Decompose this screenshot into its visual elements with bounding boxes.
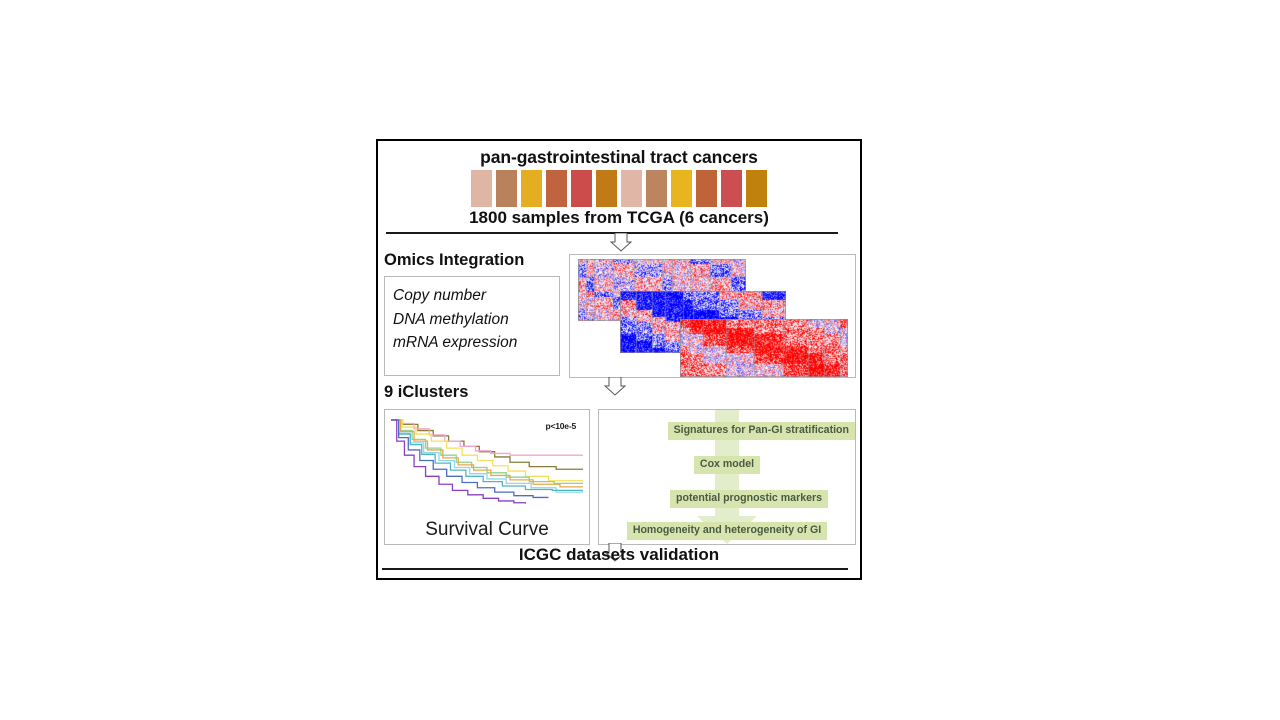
person-4-icon <box>546 170 567 207</box>
person-6-icon <box>596 170 617 207</box>
footer-label: ICGC datasets validation <box>378 545 860 565</box>
sample-count-label: 1800 samples from TCGA (6 cancers) <box>378 208 860 228</box>
outcomes-panel: Signatures for Pan-GI stratification Cox… <box>598 409 856 545</box>
person-10-icon <box>696 170 717 207</box>
omics-list: Copy number DNA methylation mRNA express… <box>384 276 560 376</box>
pvalue-label: p<10e-5 <box>546 421 577 431</box>
outcome-tag-signatures: Signatures for Pan-GI stratification <box>668 422 855 440</box>
person-2-icon <box>496 170 517 207</box>
people-icon-row <box>378 170 860 207</box>
person-7-icon <box>621 170 642 207</box>
omics-item-mrna-expression: mRNA expression <box>393 331 559 355</box>
survival-curve-caption: Survival Curve <box>385 519 589 541</box>
omics-heading: Omics Integration <box>384 251 524 270</box>
figure-frame: pan-gastrointestinal tract cancers 1800 … <box>376 139 862 580</box>
footer-divider <box>382 568 848 570</box>
outcome-tag-homogeneity: Homogeneity and heterogeneity of GI <box>627 522 827 540</box>
omics-item-copy-number: Copy number <box>393 284 559 308</box>
person-3-icon <box>521 170 542 207</box>
person-12-icon <box>746 170 767 207</box>
page-title: pan-gastrointestinal tract cancers <box>378 147 860 168</box>
outcome-tag-cox-model: Cox model <box>694 456 760 474</box>
arrow-down-icon-2 <box>604 377 626 396</box>
heatmap-3 <box>680 319 848 377</box>
person-8-icon <box>646 170 667 207</box>
arrow-down-icon-1 <box>610 233 632 252</box>
heatmap-panel <box>569 254 856 378</box>
person-5-icon <box>571 170 592 207</box>
omics-item-dna-methylation: DNA methylation <box>393 308 559 332</box>
person-1-icon <box>471 170 492 207</box>
person-9-icon <box>671 170 692 207</box>
person-11-icon <box>721 170 742 207</box>
survival-curve-panel: p<10e-5 Survival Curve <box>384 409 590 545</box>
outcome-tag-prognostic-markers: potential prognostic markers <box>670 490 828 508</box>
iclusters-heading: 9 iClusters <box>384 383 468 402</box>
